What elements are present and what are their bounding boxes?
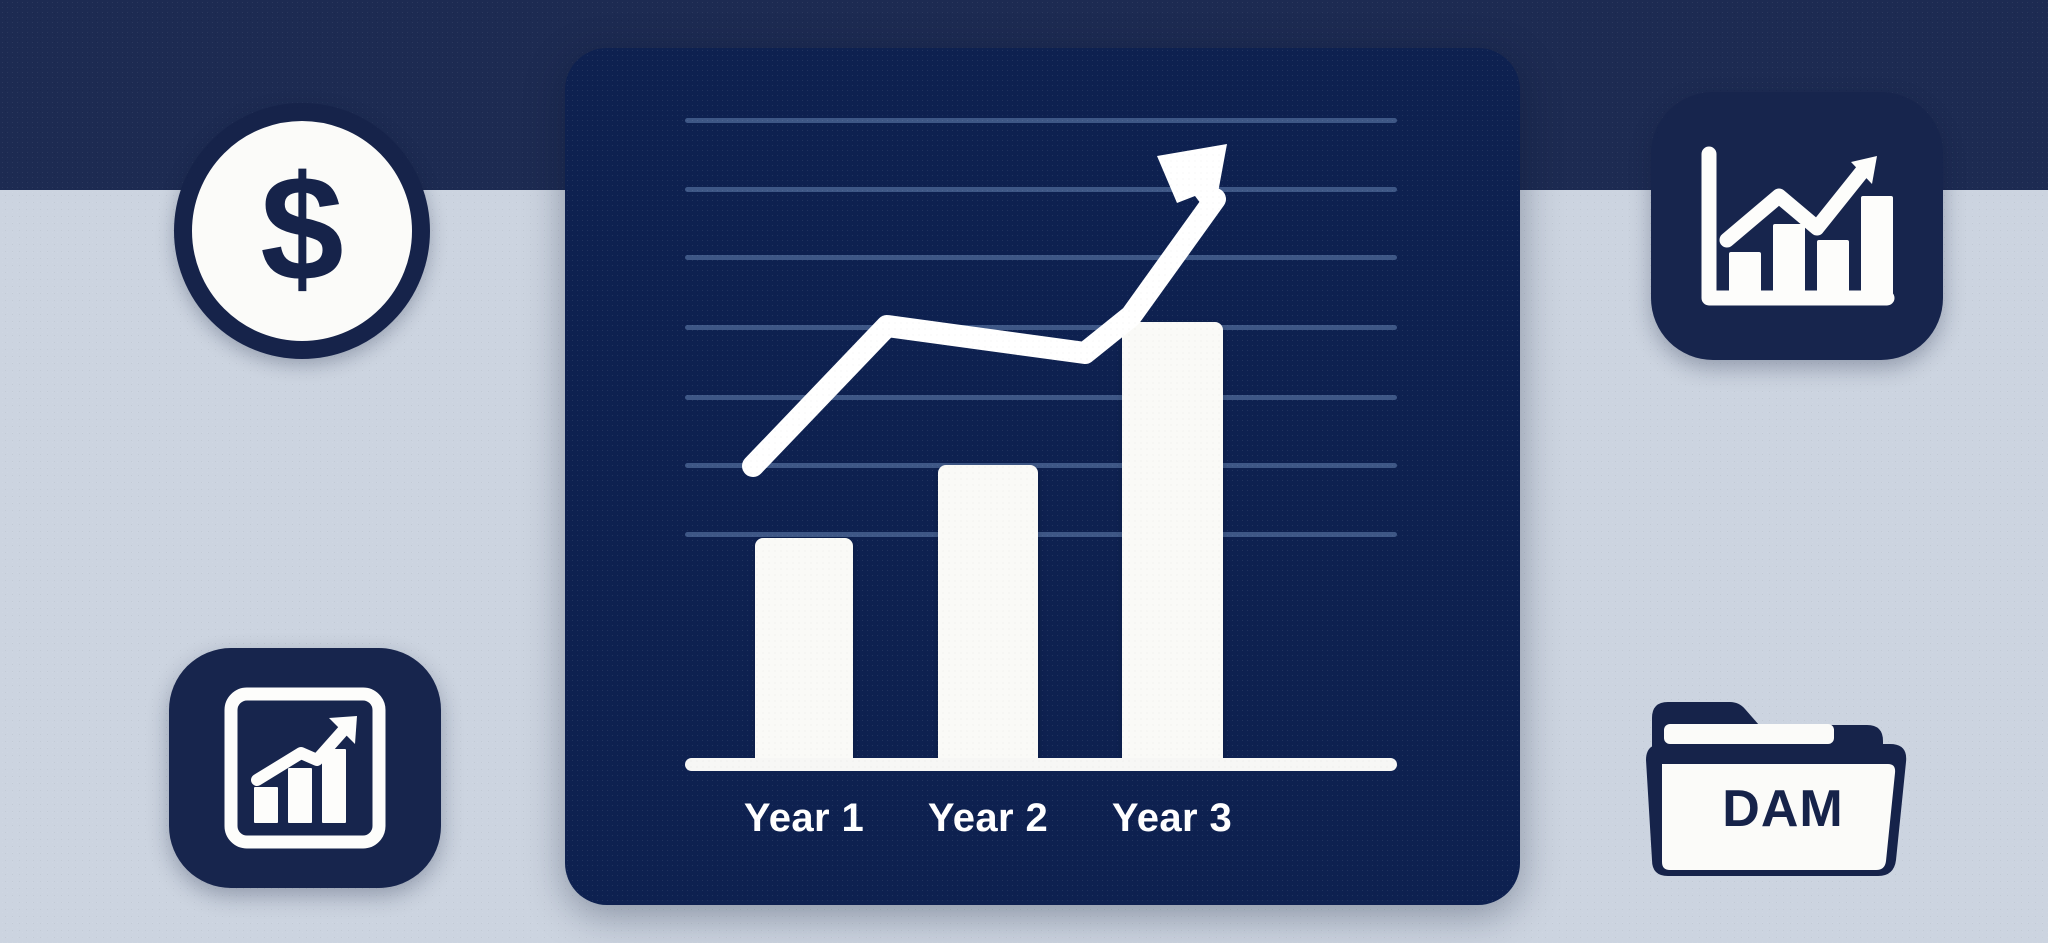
chart-plot-area: Year 1 Year 2 Year 3 (565, 48, 1520, 905)
gridline (685, 187, 1397, 192)
x-axis-label-year-1: Year 1 (714, 796, 894, 841)
bar-chart-trend-tile-icon[interactable] (1651, 92, 1943, 360)
x-axis-label-year-3: Year 3 (1082, 796, 1262, 841)
gridline (685, 255, 1397, 260)
bar-year-3 (1122, 322, 1223, 762)
bar-year-2 (938, 465, 1038, 762)
gridline (685, 532, 1397, 537)
poster-canvas: $ (0, 0, 2048, 943)
dam-folder-icon[interactable]: DAM (1638, 684, 1928, 888)
folder-shape (1638, 684, 1928, 888)
trend-line-overlay (565, 48, 1520, 905)
bar-chart-trend-icon (1651, 92, 1943, 360)
x-axis-baseline (685, 758, 1397, 771)
x-axis-label-year-2: Year 2 (898, 796, 1078, 841)
gridline (685, 463, 1397, 468)
gridline (685, 395, 1397, 400)
dollar-sign-glyph: $ (260, 153, 343, 303)
growth-chart-frame-tile-icon[interactable] (169, 648, 441, 888)
bar-year-1 (755, 538, 853, 762)
growth-chart-frame-icon (169, 648, 441, 888)
gridline (685, 325, 1397, 330)
chart-card: Year 1 Year 2 Year 3 (565, 48, 1520, 905)
gridline (685, 118, 1397, 123)
dollar-coin-icon: $ (174, 103, 430, 359)
